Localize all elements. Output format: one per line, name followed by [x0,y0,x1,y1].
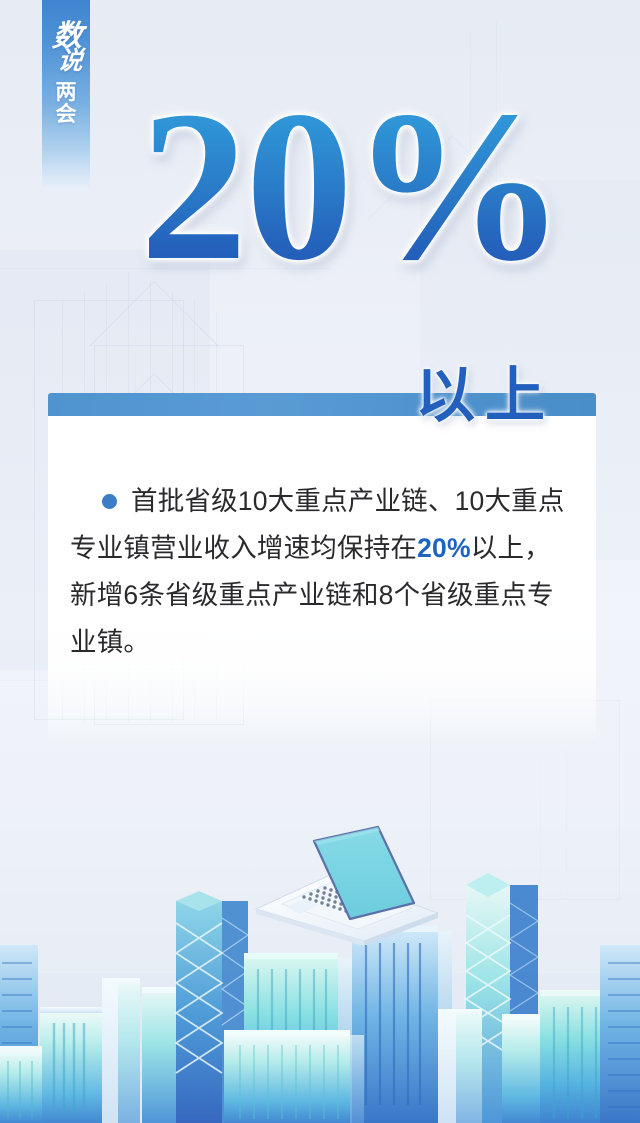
headline-number: 20% [140,78,564,293]
brand-title-secondary: 两 会 [56,82,77,126]
card-paragraph: 首批省级10大重点产业链、10大重点专业镇营业收入增速均保持在20%以上，新增6… [70,478,574,667]
content-card: 首批省级10大重点产业链、10大重点专业镇营业收入增速均保持在20%以上，新增6… [48,393,596,746]
card-top-accent-bar [48,393,596,416]
brand-char-4: 会 [56,104,77,126]
brand-banner: 数 说 两 会 [42,0,90,190]
poster-canvas: 数 说 两 会 20% 以上 首批省级10大重点产业链、10大重点专业镇营业收入… [0,0,640,1123]
isometric-laptop-icon [252,825,442,945]
brand-char-2: 说 [57,49,83,75]
card-text-highlight: 20% [417,533,471,563]
card-body: 首批省级10大重点产业链、10大重点专业镇营业收入增速均保持在20%以上，新增6… [48,416,596,746]
brand-title-primary: 数 说 [47,22,86,74]
brand-char-3: 两 [56,82,77,104]
bullet-dot-icon [102,494,117,509]
